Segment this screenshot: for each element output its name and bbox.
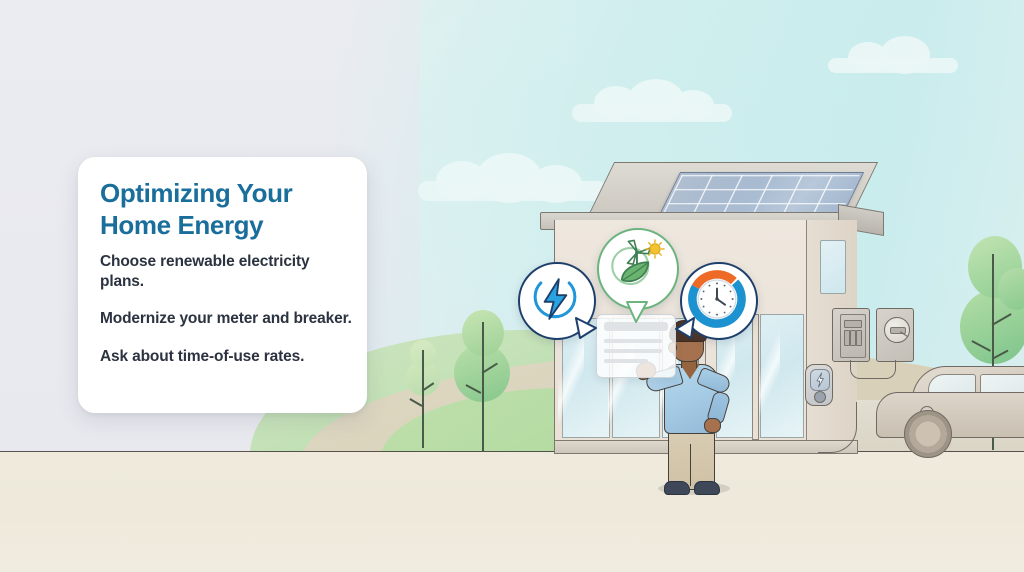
breaker-switch-3[interactable] <box>856 330 862 346</box>
breaker-display <box>844 320 862 328</box>
ev-charger-screen <box>810 369 830 391</box>
card-body: Choose renewable electricity plans. Mode… <box>100 252 352 366</box>
electric-car <box>876 366 1024 452</box>
info-card: Optimizing Your Home Energy Choose renew… <box>78 157 367 413</box>
illustration-scene: Optimizing Your Home Energy Choose renew… <box>0 0 1024 572</box>
meter-dial <box>884 317 910 343</box>
card-title-line-1: Optimizing Your <box>100 177 350 209</box>
window-mullion-b <box>752 314 759 440</box>
electric-meter[interactable] <box>876 308 914 362</box>
breaker-panel[interactable] <box>832 308 870 362</box>
bubble-time-of-use-tail <box>672 316 698 342</box>
foreground-band <box>0 452 1024 572</box>
ev-lightning-bolt-icon <box>811 370 829 390</box>
card-title-line-2: Home Energy <box>100 209 350 241</box>
document-line-1 <box>604 339 662 343</box>
figure-shoe-left <box>664 481 690 495</box>
card-paragraph-3: Ask about time-of-use rates. <box>100 347 352 367</box>
figure-shoe-right <box>694 481 720 495</box>
bubble-renewable[interactable] <box>597 228 679 310</box>
ev-charging-station[interactable] <box>805 364 833 406</box>
window-upper-right <box>820 240 846 294</box>
bubble-energy-tail <box>574 316 600 342</box>
document-line-3 <box>604 359 648 363</box>
card-paragraph-2: Modernize your meter and breaker. <box>100 309 352 329</box>
tree-small-left <box>398 338 444 450</box>
car-wheel-front <box>904 410 952 458</box>
wind-turbine-leaf-sun-icon <box>599 230 673 304</box>
tree-large-left <box>450 308 514 454</box>
window-right-1 <box>760 314 804 438</box>
bubble-renewable-tail <box>624 300 650 326</box>
card-paragraph-1: Choose renewable electricity plans. <box>100 252 352 291</box>
card-title: Optimizing Your Home Energy <box>100 177 350 241</box>
figure-hand-right <box>704 418 721 433</box>
document-line-2 <box>604 349 662 353</box>
figure-leg-split <box>690 444 691 486</box>
